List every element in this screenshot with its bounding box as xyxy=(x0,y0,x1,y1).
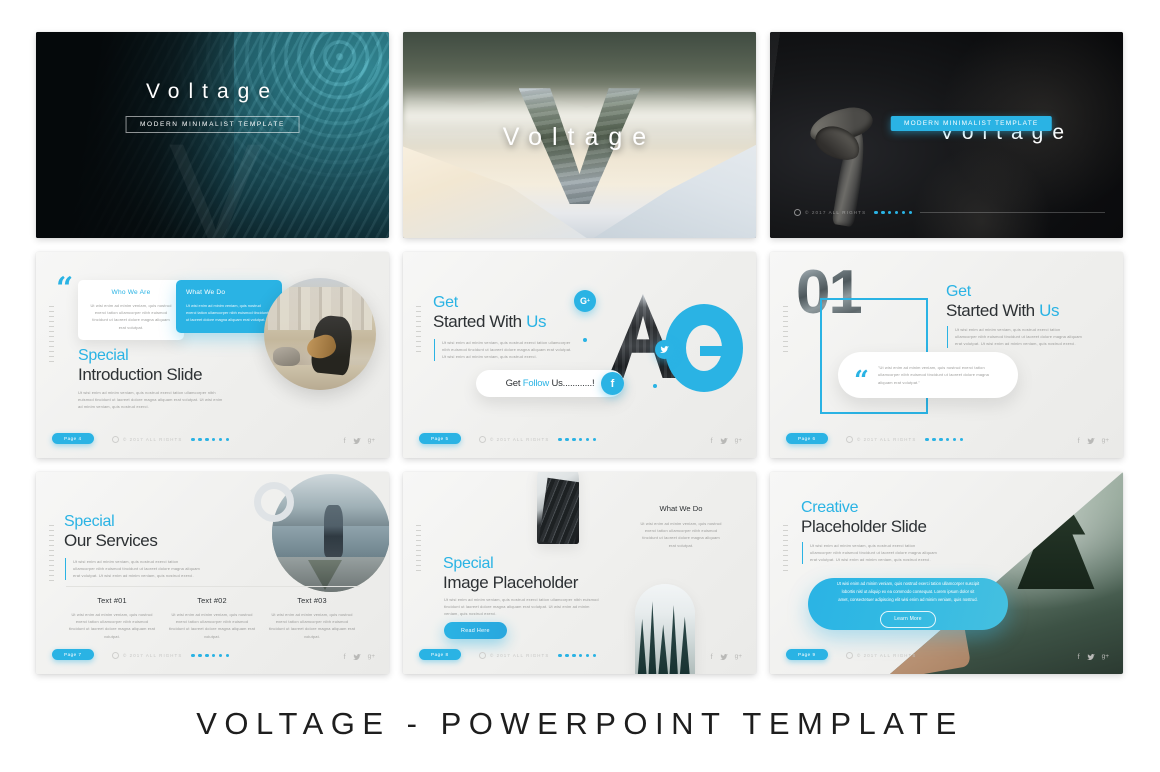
facebook-icon[interactable]: f xyxy=(344,654,346,661)
slide-heading: Creative Placeholder Slide xyxy=(801,500,927,536)
social-icons[interactable]: f g+ xyxy=(344,654,375,661)
hiker-image-group xyxy=(254,472,389,594)
card-body: Ut wisi enim ad minim veniam, quis nostr… xyxy=(88,302,174,331)
slide-body-text: Ut wisi enim ad minim veniam, quis nostr… xyxy=(947,326,1082,348)
heading-line-2: Placeholder Slide xyxy=(801,517,927,537)
column-title: Text #03 xyxy=(268,596,356,605)
page-badge[interactable]: Page 4 xyxy=(52,433,94,444)
heading-line-2: Introduction Slide xyxy=(78,365,202,385)
tick-marks xyxy=(49,525,54,581)
slide-heading: Get Started With Us xyxy=(946,284,1059,320)
heading-line-1: Creative xyxy=(801,500,927,517)
slide-heading: Special Introduction Slide xyxy=(78,348,202,384)
column-body: Ut wisi enim ad minim veniam, quis nostr… xyxy=(168,611,256,640)
pagination-dots[interactable] xyxy=(558,654,596,657)
poster-page: V Voltage MODERN MINIMALIST TEMPLATE Vol… xyxy=(0,0,1160,772)
divider xyxy=(66,586,360,587)
slide-thumbnail-6[interactable]: 01 Get Started With Us Ut wisi enim ad m… xyxy=(770,252,1123,458)
services-columns: Text #01 Ut wisi enim ad minim veniam, q… xyxy=(68,596,358,640)
twitter-icon[interactable] xyxy=(353,438,361,445)
google-plus-icon[interactable]: g+ xyxy=(368,654,375,661)
read-here-button[interactable]: Read Here xyxy=(444,622,507,639)
twitter-icon[interactable] xyxy=(720,654,728,661)
service-column: Text #02 Ut wisi enim ad minim veniam, q… xyxy=(168,596,256,640)
pagination-dots[interactable] xyxy=(191,654,229,657)
slide-footer: © 2017 ALL RIGHTS xyxy=(794,209,1105,216)
heading-line-2: Image Placeholder xyxy=(443,573,578,593)
accent-dot xyxy=(653,384,657,388)
copyright-text: © 2017 ALL RIGHTS xyxy=(479,652,549,659)
copyright-icon xyxy=(112,436,119,443)
building-arch-image xyxy=(537,472,579,544)
heading-line-2: Started With Us xyxy=(433,312,546,332)
slide-title: Voltage xyxy=(36,80,389,104)
page-badge[interactable]: Page 8 xyxy=(419,649,461,660)
slide-body-text: Ut wisi enim ad minim veniam, quis nostr… xyxy=(444,596,602,618)
heading-line-2: Started With Us xyxy=(946,301,1059,321)
service-column: Text #03 Ut wisi enim ad minim veniam, q… xyxy=(268,596,356,640)
pagination-dots[interactable] xyxy=(191,438,229,441)
pagination-dots[interactable] xyxy=(874,211,912,214)
quote-mark-icon: “ xyxy=(854,372,869,390)
heading-line-1: Get xyxy=(433,295,546,312)
google-plus-icon[interactable]: g+ xyxy=(735,438,742,445)
guitar-player-image xyxy=(264,278,376,390)
slide-thumbnail-3[interactable]: Voltage MODERN MINIMALIST TEMPLATE © 201… xyxy=(770,32,1123,238)
copyright-text: © 2017 ALL RIGHTS xyxy=(794,209,866,216)
slide-body-text: Ut wisi enim ad minim veniam, quis nostr… xyxy=(65,558,201,580)
copyright-text: © 2017 ALL RIGHTS xyxy=(846,436,916,443)
forest-arch-image xyxy=(635,584,695,674)
slide-footer: © 2017 ALL RIGHTS xyxy=(846,652,916,659)
copyright-icon xyxy=(112,652,119,659)
tick-marks xyxy=(783,525,788,571)
column-title: Text #02 xyxy=(168,596,256,605)
heading-line-1: Special xyxy=(78,348,202,365)
slide-footer: © 2017 ALL RIGHTS xyxy=(846,436,963,443)
block-body: Ut wisi enim ad minim veniam, quis nostr… xyxy=(639,520,723,549)
facebook-icon[interactable]: f xyxy=(1078,438,1080,445)
heading-line-2: Our Services xyxy=(64,531,157,551)
google-plus-icon[interactable]: g+ xyxy=(368,438,375,445)
slide-body-text: Ut wisi enim ad minim veniam, quis nostr… xyxy=(78,389,228,411)
slide-heading: Special Image Placeholder xyxy=(443,556,578,592)
card-body: Ut wisi enim ad minim veniam, quis nostr… xyxy=(186,302,272,324)
social-icons[interactable]: f g+ xyxy=(711,654,742,661)
quote-mark-icon: “ xyxy=(56,278,73,299)
learn-more-button[interactable]: Learn More xyxy=(880,611,936,628)
slide-footer: © 2017 ALL RIGHTS xyxy=(479,436,596,443)
footer-divider xyxy=(920,212,1105,213)
slide-grid: V Voltage MODERN MINIMALIST TEMPLATE Vol… xyxy=(36,32,1124,688)
tick-marks xyxy=(783,306,788,352)
slide-thumbnail-9[interactable]: Creative Placeholder Slide Ut wisi enim … xyxy=(770,472,1123,674)
slide-thumbnail-7[interactable]: Special Our Services Ut wisi enim ad min… xyxy=(36,472,389,674)
copyright-icon xyxy=(846,436,853,443)
decorative-ring xyxy=(254,482,294,522)
social-icons[interactable]: f g+ xyxy=(1078,438,1109,445)
twitter-icon[interactable] xyxy=(720,438,728,445)
slide-row-3: Special Our Services Ut wisi enim ad min… xyxy=(36,472,1124,674)
slide-thumbnail-1[interactable]: V Voltage MODERN MINIMALIST TEMPLATE xyxy=(36,32,389,238)
google-plus-icon[interactable]: g+ xyxy=(735,654,742,661)
tick-marks xyxy=(416,525,421,571)
tick-marks xyxy=(49,306,54,362)
page-badge[interactable]: Page 7 xyxy=(52,649,94,660)
slide-thumbnail-2[interactable]: Voltage xyxy=(403,32,756,238)
tick-marks xyxy=(416,306,421,352)
social-icons[interactable]: f g+ xyxy=(711,438,742,445)
poster-caption: VOLTAGE - POWERPOINT TEMPLATE xyxy=(0,706,1160,742)
social-icons[interactable]: f g+ xyxy=(1078,654,1109,661)
copyright-icon xyxy=(479,652,486,659)
slide-thumbnail-4[interactable]: “ Who We Are Ut wisi enim ad minim venia… xyxy=(36,252,389,458)
tagline-badge: MODERN MINIMALIST TEMPLATE xyxy=(125,116,300,133)
pagination-dots[interactable] xyxy=(558,438,596,441)
twitter-icon[interactable] xyxy=(1087,654,1095,661)
copyright-text: © 2017 ALL RIGHTS xyxy=(479,436,549,443)
slide-footer: © 2017 ALL RIGHTS xyxy=(112,652,229,659)
slide-heading: Special Our Services xyxy=(64,514,157,550)
cyan-content-panel: Ut wisi enim ad minim veniam, quis nostr… xyxy=(808,578,1008,630)
copyright-icon xyxy=(479,436,486,443)
slide-row-2: “ Who We Are Ut wisi enim ad minim venia… xyxy=(36,252,1124,458)
copyright-text: © 2017 ALL RIGHTS xyxy=(112,436,182,443)
card-who-we-are[interactable]: Who We Are Ut wisi enim ad minim veniam,… xyxy=(78,280,184,340)
what-we-do-block: What We Do Ut wisi enim ad minim veniam,… xyxy=(639,504,723,549)
slide-row-1: V Voltage MODERN MINIMALIST TEMPLATE Vol… xyxy=(36,32,1124,238)
page-badge[interactable]: Page 9 xyxy=(786,649,828,660)
letter-g-bar xyxy=(700,346,724,356)
facebook-circle-icon[interactable]: f xyxy=(601,372,624,395)
page-badge[interactable]: Page 5 xyxy=(419,433,461,444)
panel-body: Ut wisi enim ad minim veniam, quis nostr… xyxy=(836,580,980,604)
page-badge[interactable]: Page 6 xyxy=(786,433,828,444)
column-title: Text #01 xyxy=(68,596,156,605)
twitter-icon[interactable] xyxy=(1087,438,1095,445)
forest-photo xyxy=(635,584,695,674)
column-body: Ut wisi enim ad minim veniam, quis nostr… xyxy=(268,611,356,640)
twitter-circle-icon[interactable] xyxy=(655,340,674,359)
pagination-dots[interactable] xyxy=(925,438,963,441)
column-body: Ut wisi enim ad minim veniam, quis nostr… xyxy=(68,611,156,640)
v-watermark: V xyxy=(169,123,256,238)
pill-label: Get Follow Us............! xyxy=(506,378,595,389)
facebook-icon[interactable]: f xyxy=(711,438,713,445)
slide-thumbnail-5[interactable]: Get Started With Us Ut wisi enim ad mini… xyxy=(403,252,756,458)
service-column: Text #01 Ut wisi enim ad minim veniam, q… xyxy=(68,596,156,640)
facebook-icon[interactable]: f xyxy=(1078,654,1080,661)
social-icons[interactable]: f g+ xyxy=(344,438,375,445)
copyright-text: © 2017 ALL RIGHTS xyxy=(112,652,182,659)
slide-footer: © 2017 ALL RIGHTS xyxy=(479,652,596,659)
heading-line-1: Get xyxy=(946,284,1059,301)
quote-pill[interactable]: “ "Ut wisi enim ad minim veniam, quis no… xyxy=(838,352,1018,398)
slide-title: Voltage xyxy=(403,123,756,152)
card-title: Who We Are xyxy=(88,289,174,296)
slide-body-text: Ut wisi enim ad minim veniam, quis nostr… xyxy=(434,339,572,361)
slide-body-text: Ut wisi enim ad minim veniam, quis nostr… xyxy=(802,542,938,564)
slide-footer: © 2017 ALL RIGHTS xyxy=(112,436,229,443)
accent-dot xyxy=(583,338,587,342)
copyright-icon xyxy=(846,652,853,659)
heading-line-1: Special xyxy=(64,514,157,531)
facebook-icon[interactable]: f xyxy=(711,654,713,661)
google-plus-icon[interactable]: g+ xyxy=(1102,654,1109,661)
quote-text: "Ut wisi enim ad minim veniam, quis nost… xyxy=(878,364,1002,386)
google-plus-icon[interactable]: g+ xyxy=(1102,438,1109,445)
facebook-icon[interactable]: f xyxy=(344,438,346,445)
tagline-badge: MODERN MINIMALIST TEMPLATE xyxy=(891,116,1052,131)
slide-heading: Get Started With Us xyxy=(433,295,546,331)
card-title: What We Do xyxy=(186,289,272,296)
google-plus-circle-icon[interactable]: G+ xyxy=(574,290,596,312)
heading-line-1: Special xyxy=(443,556,578,573)
copyright-text: © 2017 ALL RIGHTS xyxy=(846,652,916,659)
copyright-icon xyxy=(794,209,801,216)
twitter-icon[interactable] xyxy=(353,654,361,661)
block-title: What We Do xyxy=(639,504,723,513)
slide-thumbnail-8[interactable]: What We Do Ut wisi enim ad minim veniam,… xyxy=(403,472,756,674)
